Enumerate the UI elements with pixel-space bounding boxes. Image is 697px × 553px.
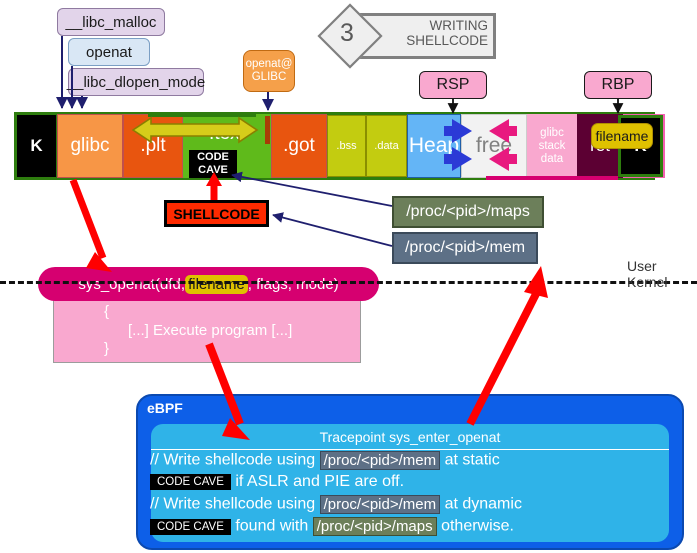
- callout-rsp: RSP: [419, 71, 487, 99]
- user-kernel-labels: User Kernel: [627, 258, 693, 290]
- code-cave-line1: CODE: [197, 151, 229, 164]
- ebpf-comment-line-4: CODE CAVE found with /proc/<pid>/maps ot…: [150, 517, 680, 536]
- step-title-line2: SHELLCODE: [406, 33, 488, 48]
- ebpf-l1-b: at static: [440, 452, 500, 469]
- step-title-line1: WRITING: [430, 18, 489, 33]
- proc-mem-to-shellcode-arrow: [273, 215, 392, 246]
- syscall-brace-close: }: [104, 340, 109, 357]
- syscall-filename-arg: filename: [185, 275, 248, 294]
- proc-mem-box: /proc/<pid>/mem: [392, 232, 538, 264]
- proc-maps-tag-1: /proc/<pid>/maps: [313, 517, 437, 536]
- step-number: 3: [318, 4, 376, 62]
- proc-mem-tag-1: /proc/<pid>/mem: [320, 451, 441, 470]
- syscall-brace-open: {: [104, 303, 109, 320]
- segment-plt: .plt: [123, 114, 183, 178]
- ebpf-l2-b: if ASLR and PIE are off.: [231, 473, 404, 490]
- segment-kernel-left: K: [17, 115, 56, 177]
- ebpf-comment-line-2: CODE CAVE if ASLR and PIE are off.: [150, 473, 680, 491]
- ebpf-l1-a: // Write shellcode using: [150, 452, 320, 469]
- glibc-stack-line1: glibc: [540, 127, 564, 140]
- segment-data: .data: [366, 115, 407, 177]
- memory-layout-bar: K glibc .plt .text .got .bss .data Heap …: [14, 112, 655, 180]
- segment-heap: Heap: [407, 114, 461, 178]
- syscall-body-text: [...] Execute program [...]: [128, 322, 292, 339]
- glibc-stack-line3: data: [541, 153, 563, 166]
- code-cave-block: CODE CAVE: [189, 150, 237, 178]
- ebpf-comment-line-3: // Write shellcode using /proc/<pid>/mem…: [150, 495, 680, 514]
- ebpf-tracepoint-title: Tracepoint sys_enter_openat: [151, 424, 669, 450]
- code-cave-line2: CAVE: [198, 164, 228, 177]
- glibc-stack-line2: stack: [539, 140, 566, 153]
- ebpf-l3-b: at dynamic: [440, 496, 522, 513]
- kernel-label: Kernel: [627, 274, 693, 290]
- step-banner: 3 WRITING SHELLCODE: [318, 4, 490, 62]
- proc-mem-tag-2: /proc/<pid>/mem: [320, 495, 441, 514]
- stack-strip: [486, 176, 618, 180]
- ebpf-l4-b1: found with: [231, 518, 313, 535]
- filename-pill: filename: [591, 123, 653, 149]
- user-label: User: [627, 258, 693, 274]
- ebpf-comment-line-1: // Write shellcode using /proc/<pid>/mem…: [150, 451, 680, 470]
- code-cave-tag-2: CODE CAVE: [150, 519, 231, 535]
- callout-libc-dlopen-mode: __libc_dlopen_mode: [68, 68, 204, 96]
- syscall-sig-pre: sys_openat(dfd,: [78, 276, 185, 293]
- callout-openat-glibc-line1: openat@: [246, 58, 293, 71]
- syscall-sig-post: , flags, mode): [248, 276, 339, 293]
- callout-rbp: RBP: [584, 71, 652, 99]
- proc-maps-box: /proc/<pid>/maps: [392, 196, 544, 228]
- code-cave-tag-1: CODE CAVE: [150, 474, 231, 490]
- segment-free: free: [461, 114, 527, 178]
- user-kernel-divider: [0, 281, 697, 284]
- segment-text-label: .text: [183, 123, 271, 145]
- step-title: WRITING SHELLCODE: [374, 14, 488, 52]
- ebpf-l4-b2: otherwise.: [437, 518, 514, 535]
- segment-glibc: glibc: [57, 114, 123, 178]
- ebpf-l3-a: // Write shellcode using: [150, 496, 320, 513]
- segment-bss: .bss: [327, 115, 366, 177]
- segment-got: .got: [271, 114, 327, 178]
- callout-openat-glibc: openat@ GLIBC: [243, 50, 295, 92]
- callout-openat-glibc-line2: GLIBC: [252, 71, 287, 84]
- register-pointer-arrows: [453, 99, 618, 113]
- callout-openat: openat: [68, 38, 150, 66]
- callout-libc-malloc: __libc_malloc: [57, 8, 165, 36]
- syscall-signature: sys_openat(dfd, filename, flags, mode): [38, 267, 379, 301]
- glibc-to-syscall-arrow: [73, 180, 112, 272]
- ebpf-label: eBPF: [147, 400, 183, 416]
- segment-glibc-stack-data: glibc stack data: [527, 114, 577, 178]
- shellcode-box: SHELLCODE: [164, 200, 269, 227]
